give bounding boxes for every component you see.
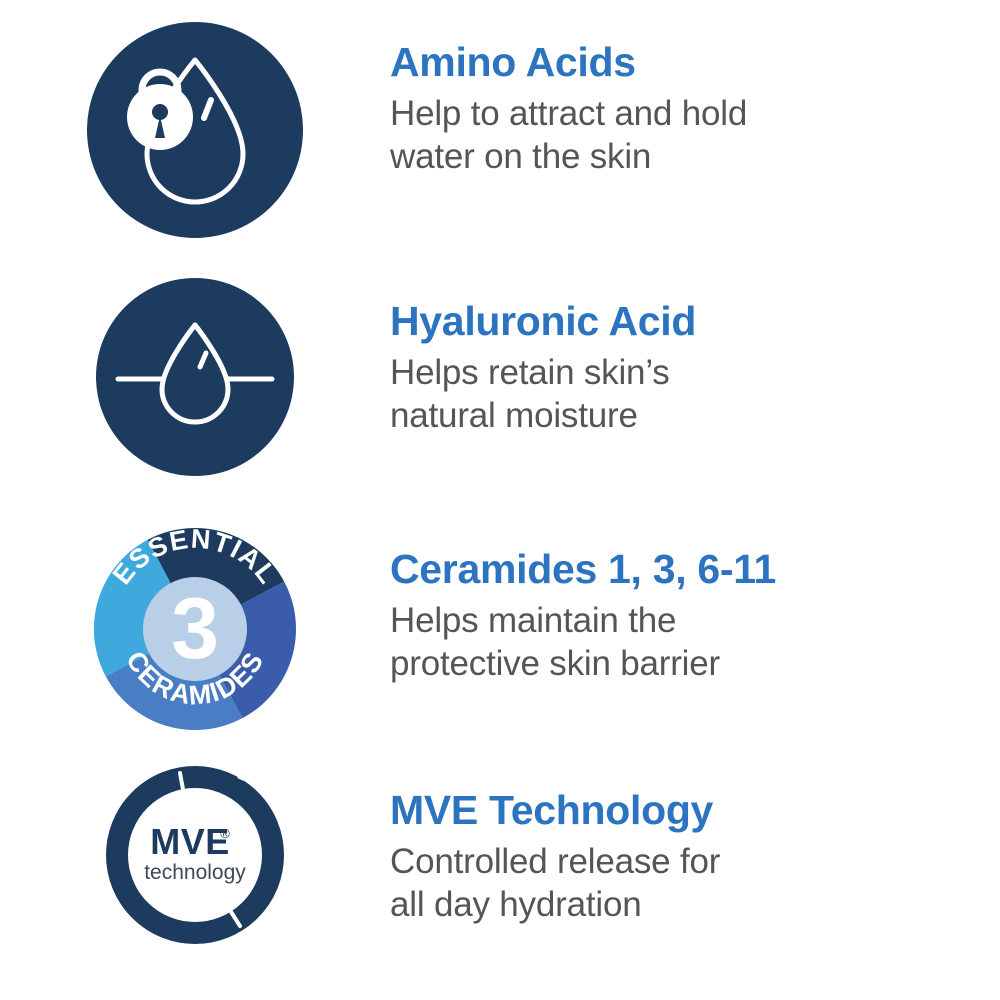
mve-technology-ring-icon: 24-hour hydration MVE ® technology (106, 766, 284, 944)
feature-description-line: Controlled release for (390, 841, 980, 884)
feature-description-line: Help to attract and hold (390, 93, 980, 136)
feature-description-line: protective skin barrier (390, 643, 980, 686)
feature-description-line: all day hydration (390, 884, 980, 927)
feature-title: Amino Acids (390, 42, 980, 84)
feature-title: Hyaluronic Acid (390, 301, 980, 343)
icon-cell (0, 278, 390, 476)
icon-cell: 3 ESSENTIAL CERAMIDES (0, 528, 390, 730)
feature-description: Controlled release for all day hydration (390, 841, 980, 926)
feature-row: Hyaluronic Acid Helps retain skin’s natu… (0, 278, 1000, 476)
feature-description: Helps maintain the protective skin barri… (390, 600, 980, 685)
text-cell: Ceramides 1, 3, 6-11 Helps maintain the … (390, 528, 1000, 685)
mve-subtext: technology (144, 861, 246, 884)
feature-description-line: Helps maintain the (390, 600, 980, 643)
feature-description-line: Helps retain skin’s (390, 352, 980, 395)
water-drop-retain-icon (96, 278, 294, 476)
feature-description: Helps retain skin’s natural moisture (390, 352, 980, 437)
text-cell: MVE Technology Controlled release for al… (390, 766, 1000, 926)
feature-title: MVE Technology (390, 790, 980, 832)
essential-3-ceramides-badge-icon: 3 ESSENTIAL CERAMIDES (94, 528, 296, 730)
icon-cell (0, 22, 390, 238)
feature-description-line: natural moisture (390, 395, 980, 438)
feature-row: 3 ESSENTIAL CERAMIDES Ceramides 1, 3, 6-… (0, 528, 1000, 730)
mve-wordmark: MVE (150, 821, 230, 862)
feature-row: Amino Acids Help to attract and hold wat… (0, 22, 1000, 238)
feature-description-line: water on the skin (390, 136, 980, 179)
ingredient-benefits-infographic: Amino Acids Help to attract and hold wat… (0, 0, 1000, 1000)
text-cell: Hyaluronic Acid Helps retain skin’s natu… (390, 278, 1000, 437)
locked-water-drop-icon (87, 22, 303, 238)
feature-title: Ceramides 1, 3, 6-11 (390, 549, 980, 591)
ceramide-count-number: 3 (171, 581, 219, 677)
registered-trademark-icon: ® (220, 826, 230, 841)
text-cell: Amino Acids Help to attract and hold wat… (390, 22, 1000, 178)
feature-description: Help to attract and hold water on the sk… (390, 93, 980, 178)
icon-cell: 24-hour hydration MVE ® technology (0, 766, 390, 944)
feature-row: 24-hour hydration MVE ® technology MVE T… (0, 766, 1000, 944)
